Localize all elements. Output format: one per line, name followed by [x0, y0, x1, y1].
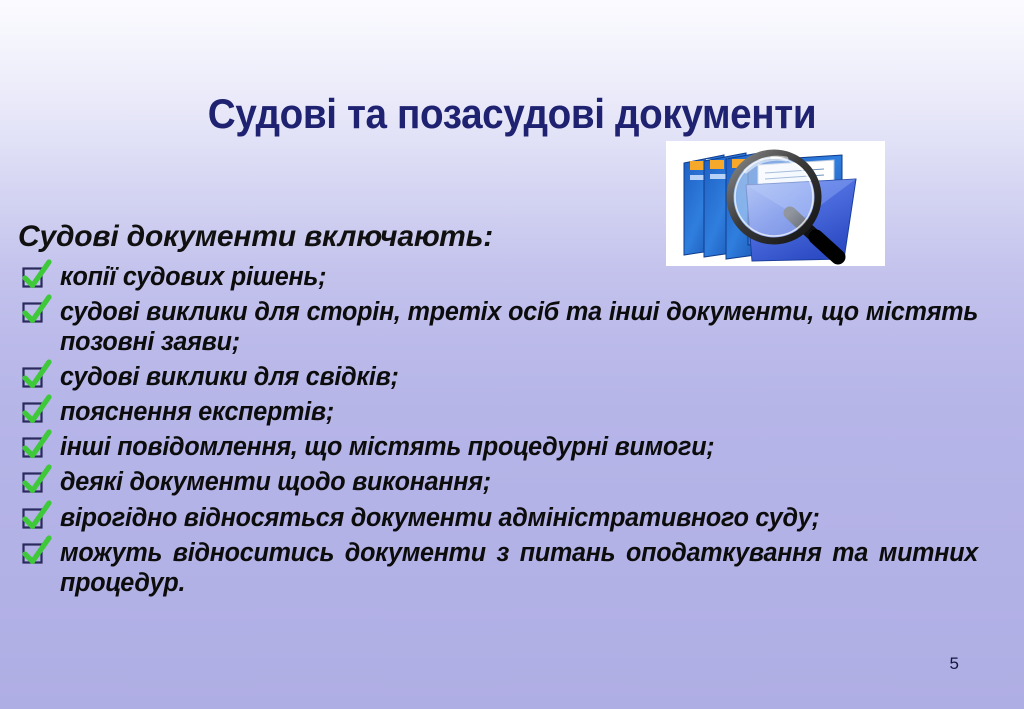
list-item-label: можуть відноситись документи з питань оп…	[60, 538, 978, 598]
check-box-icon	[18, 426, 56, 462]
page-title: Судові та позасудові документи	[41, 90, 983, 138]
list-item: судові виклики для сторін, третіх осіб т…	[16, 297, 992, 357]
intro-paragraph: Судові документи включають:	[18, 220, 493, 254]
list-item: інші повідомлення, що містять процедурні…	[16, 432, 992, 462]
list-item-label: судові виклики для сторін, третіх осіб т…	[60, 297, 978, 357]
check-box-icon	[18, 532, 56, 568]
list-item: судові виклики для свідків;	[16, 362, 992, 392]
check-box-icon	[18, 256, 56, 292]
list-item-label: вірогідно відносяться документи адмініст…	[60, 503, 978, 533]
list-item: пояснення експертів;	[16, 397, 992, 427]
list-item: вірогідно відносяться документи адмініст…	[16, 503, 992, 533]
folders-with-magnifier-graphic	[666, 141, 885, 266]
page-number: 5	[950, 654, 959, 674]
check-box-icon	[18, 391, 56, 427]
list-item: можуть відноситись документи з питань оп…	[16, 538, 992, 598]
list-item-label: пояснення експертів;	[60, 397, 978, 427]
folders-with-magnifier-clipart	[666, 141, 885, 266]
list-item-label: деякі документи щодо виконання;	[60, 467, 978, 497]
check-box-icon	[18, 291, 56, 327]
list-item-label: інші повідомлення, що містять процедурні…	[60, 432, 978, 462]
list-item-label: судові виклики для свідків;	[60, 362, 978, 392]
check-box-icon	[18, 461, 56, 497]
list-item: деякі документи щодо виконання;	[16, 467, 992, 497]
bullet-list: копії судових рішень; судові виклики для…	[16, 262, 992, 603]
check-box-icon	[18, 356, 56, 392]
list-item: копії судових рішень;	[16, 262, 992, 292]
check-box-icon	[18, 497, 56, 533]
presentation-slide: Судові та позасудові документи	[0, 0, 1024, 709]
list-item-label: копії судових рішень;	[60, 262, 978, 292]
